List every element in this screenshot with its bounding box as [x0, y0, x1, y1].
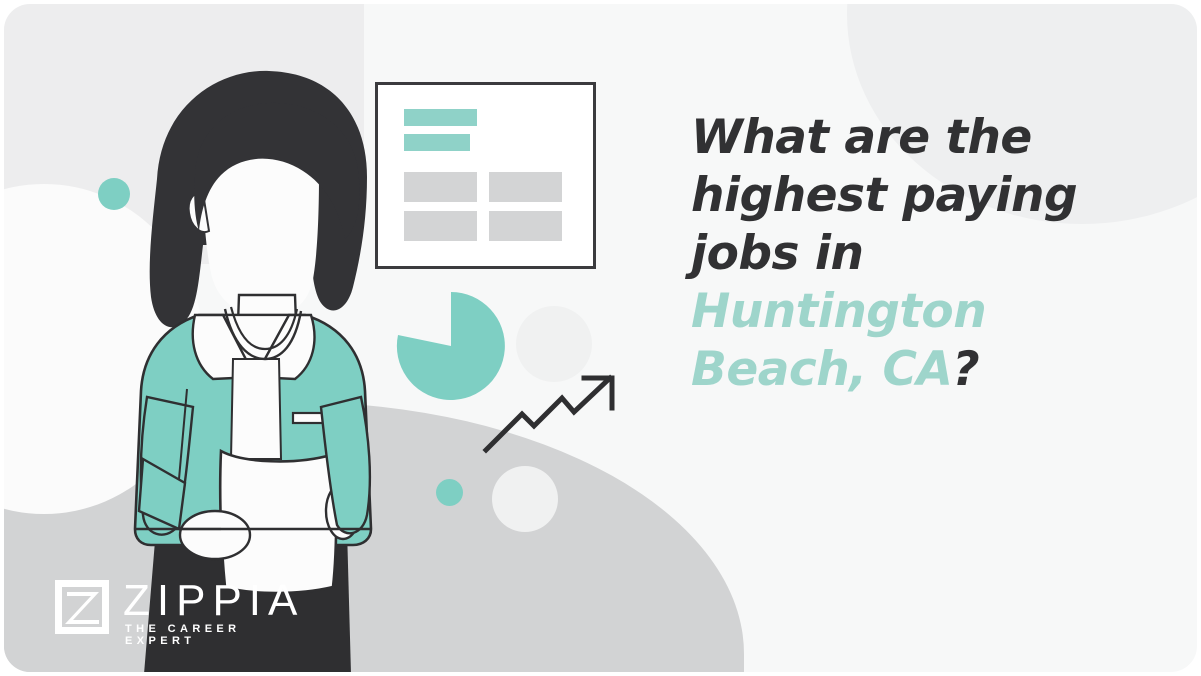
decor-grey-circle-1 — [516, 306, 592, 382]
table-card-block-4 — [489, 211, 562, 241]
zippia-tagline: THE CAREER EXPERT — [125, 623, 306, 647]
table-card-block-2 — [489, 172, 562, 202]
headline-line-3: jobs in — [691, 225, 1111, 283]
decor-teal-circle-2 — [436, 479, 463, 506]
headline-line-1: What are the — [691, 109, 1111, 167]
headline-question-mark: ? — [952, 342, 979, 397]
headline-location: Huntington Beach, CA — [691, 284, 986, 397]
headline-line-2: highest paying — [691, 167, 1111, 225]
table-card-block-1 — [404, 172, 477, 202]
table-card-block-3 — [404, 211, 477, 241]
table-card-header-bar-2 — [404, 134, 470, 151]
table-card-header-bar-1 — [404, 109, 477, 126]
headline-location-line: Huntington Beach, CA? — [691, 283, 1111, 399]
upward-trend-arrow-graphic — [482, 372, 622, 454]
zippia-wordmark: ZIPPIA — [123, 578, 304, 624]
zippia-z-mark-icon — [51, 576, 113, 638]
page-title: What are the highest paying jobs in Hunt… — [691, 109, 1111, 399]
zippia-logo[interactable]: ZIPPIA THE CAREER EXPERT — [51, 574, 306, 644]
decor-grey-circle-2 — [492, 466, 558, 532]
banner-card: What are the highest paying jobs in Hunt… — [4, 4, 1197, 672]
hero-banner-canvas: What are the highest paying jobs in Hunt… — [0, 0, 1201, 676]
